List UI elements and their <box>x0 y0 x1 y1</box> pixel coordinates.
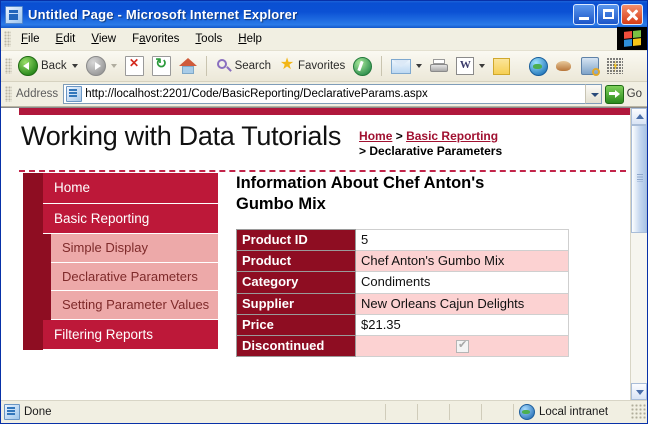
forward-icon <box>86 56 106 76</box>
breadcrumb-separator-1: > <box>392 129 406 143</box>
print-icon <box>430 59 448 73</box>
row-value-discontinued <box>356 336 569 357</box>
notes-icon <box>493 58 510 75</box>
scrollbar-track[interactable] <box>631 125 647 383</box>
ie-brand-logo <box>617 27 647 50</box>
sidebar-item-label: Simple Display <box>51 234 218 263</box>
title-bar: Untitled Page - Microsoft Internet Explo… <box>1 1 647 28</box>
back-history-chevron-down-icon[interactable] <box>72 64 78 68</box>
menu-item-edit[interactable]: Edit <box>48 30 84 48</box>
row-header-category: Category <box>237 272 356 293</box>
table-row: Category Condiments <box>237 272 569 293</box>
home-button[interactable] <box>175 54 201 78</box>
row-header-product-id: Product ID <box>237 229 356 250</box>
address-bar: Address http://localhost:2201/Code/Basic… <box>1 82 647 107</box>
window-controls <box>573 4 643 25</box>
back-label: Back <box>41 60 67 72</box>
refresh-button[interactable] <box>148 54 175 78</box>
sidebar-item-simple-display[interactable]: Simple Display <box>23 234 218 263</box>
table-row: Product Chef Anton's Gumbo Mix <box>237 251 569 272</box>
sidebar-item-home[interactable]: Home <box>23 173 218 204</box>
row-header-supplier: Supplier <box>237 293 356 314</box>
sidebar-item-declarative-parameters[interactable]: Declarative Parameters <box>23 263 218 292</box>
status-text: Done <box>24 406 52 418</box>
globe-icon <box>529 57 548 76</box>
mail-chevron-down-icon[interactable] <box>416 64 422 68</box>
favorites-star-icon: ★ <box>279 58 295 74</box>
menu-item-favorites[interactable]: Favorites <box>124 30 187 48</box>
scroll-up-button[interactable] <box>631 108 647 125</box>
sidebar-item-label: Declarative Parameters <box>51 263 218 292</box>
sidebar-nav: Home Basic Reporting Simple Display Decl… <box>19 173 218 357</box>
scrollbar-thumb[interactable] <box>631 125 647 233</box>
windows-flag-icon <box>624 30 641 47</box>
media-button[interactable] <box>349 54 376 78</box>
maximize-button[interactable] <box>597 4 619 25</box>
page-accent-bar <box>19 108 630 115</box>
address-grip[interactable] <box>5 86 12 102</box>
browser-window: Untitled Page - Microsoft Internet Explo… <box>0 0 648 424</box>
window-title: Untitled Page - Microsoft Internet Explo… <box>28 7 573 22</box>
product-detail-table: Product ID 5 Product Chef Anton's Gumbo … <box>236 229 569 358</box>
breadcrumb-link-basic-reporting[interactable]: Basic Reporting <box>406 129 498 143</box>
menu-item-file[interactable]: File <box>13 30 48 48</box>
sidebar-item-setting-parameter-values[interactable]: Setting Parameter Values <box>23 291 218 320</box>
back-button[interactable]: Back <box>14 54 82 78</box>
zone-text: Local intranet <box>539 406 608 418</box>
research-icon <box>607 58 623 74</box>
breadcrumb-current: > Declarative Parameters <box>359 144 502 158</box>
messenger-button[interactable] <box>552 54 577 78</box>
security-zone[interactable]: Local intranet <box>513 404 631 420</box>
content-heading: Information About Chef Anton's Gumbo Mix <box>236 173 546 216</box>
minimize-button[interactable] <box>573 4 595 25</box>
forward-history-chevron-down-icon[interactable] <box>111 64 117 68</box>
page-status-icon <box>4 404 20 420</box>
menu-item-help[interactable]: Help <box>230 30 270 48</box>
row-value-product-id: 5 <box>356 229 569 250</box>
status-panel-2 <box>417 404 449 420</box>
status-panel-3 <box>449 404 481 420</box>
messenger-icon <box>556 59 573 74</box>
sidebar-accent-bar <box>23 263 51 292</box>
resize-grip[interactable] <box>631 404 647 420</box>
mail-icon <box>391 59 411 74</box>
go-button[interactable]: Go <box>602 85 647 104</box>
row-value-supplier: New Orleans Cajun Delights <box>356 293 569 314</box>
row-value-category: Condiments <box>356 272 569 293</box>
stop-button[interactable] <box>121 54 148 78</box>
forward-button[interactable] <box>82 54 121 78</box>
close-button[interactable] <box>621 4 643 25</box>
search-button[interactable]: Search <box>212 54 275 78</box>
sidebar-accent-bar <box>23 291 51 320</box>
refresh-icon <box>152 56 171 76</box>
notes-button[interactable] <box>489 54 514 78</box>
page-body: Home Basic Reporting Simple Display Decl… <box>19 159 630 357</box>
page-icon <box>66 86 82 102</box>
sidebar-item-label: Basic Reporting <box>43 204 218 235</box>
edit-button[interactable]: W <box>452 54 489 78</box>
row-header-product: Product <box>237 251 356 272</box>
scroll-down-button[interactable] <box>631 383 647 400</box>
back-icon <box>18 56 38 76</box>
address-url-text: http://localhost:2201/Code/BasicReportin… <box>85 88 428 100</box>
row-header-price: Price <box>237 314 356 335</box>
stop-icon <box>125 56 144 76</box>
menu-bar: File Edit View Favorites Tools Help <box>1 28 647 51</box>
status-message: Done <box>1 404 385 420</box>
breadcrumb: Home > Basic Reporting > Declarative Par… <box>359 129 502 159</box>
row-value-product: Chef Anton's Gumbo Mix <box>356 251 569 272</box>
mail-button[interactable] <box>387 54 426 78</box>
address-chevron-down-icon[interactable] <box>585 84 602 104</box>
vertical-scrollbar[interactable] <box>630 108 647 400</box>
header-divider <box>19 170 626 172</box>
edit-chevron-down-icon[interactable] <box>479 64 485 68</box>
address-input[interactable]: http://localhost:2201/Code/BasicReportin… <box>63 84 584 104</box>
breadcrumb-link-home[interactable]: Home <box>359 129 392 143</box>
sidebar-item-label: Filtering Reports <box>43 320 218 351</box>
media-icon <box>353 57 372 76</box>
address-label: Address <box>14 88 63 100</box>
toolbar-separator <box>206 56 207 76</box>
table-row: Product ID 5 <box>237 229 569 250</box>
row-header-discontinued: Discontinued <box>237 336 356 357</box>
toolbar-separator-2 <box>381 56 382 76</box>
favorites-button[interactable]: ★ Favorites <box>275 54 349 78</box>
search-icon <box>216 58 232 74</box>
toolbar-grip[interactable] <box>5 58 12 74</box>
sidebar-accent-bar <box>23 173 43 204</box>
menu-grip[interactable] <box>4 31 11 47</box>
menu-item-tools[interactable]: Tools <box>187 30 230 48</box>
table-row: Discontinued <box>237 336 569 357</box>
edit-word-icon: W <box>456 57 474 75</box>
status-bar: Done Local intranet <box>1 400 647 423</box>
table-row: Supplier New Orleans Cajun Delights <box>237 293 569 314</box>
status-panel-1 <box>385 404 417 420</box>
discuss-button[interactable] <box>577 54 603 78</box>
web-page: Working with Data Tutorials Home > Basic… <box>1 108 630 400</box>
go-label: Go <box>627 88 642 100</box>
discontinued-checkbox <box>456 340 469 353</box>
search-label: Search <box>235 60 271 72</box>
print-button[interactable] <box>426 54 452 78</box>
sidebar-accent-bar <box>23 320 43 351</box>
table-row: Price $21.35 <box>237 314 569 335</box>
row-value-price: $21.35 <box>356 314 569 335</box>
status-panel-4 <box>481 404 513 420</box>
globe-icon <box>519 404 535 420</box>
page-header: Working with Data Tutorials Home > Basic… <box>19 115 630 159</box>
menu-item-view[interactable]: View <box>83 30 124 48</box>
sidebar-item-basic-reporting[interactable]: Basic Reporting <box>23 204 218 235</box>
research-button[interactable] <box>603 54 627 78</box>
discuss-icon <box>581 57 599 75</box>
home-icon <box>179 58 197 74</box>
sidebar-item-label: Home <box>43 173 218 204</box>
window-icon <box>5 6 23 24</box>
toolbar-separator-3 <box>519 56 520 76</box>
main-content: Information About Chef Anton's Gumbo Mix… <box>218 173 630 357</box>
favorites-label: Favorites <box>298 60 345 72</box>
sidebar-accent-bar <box>23 234 51 263</box>
globe-button[interactable] <box>525 54 552 78</box>
sidebar-item-label: Setting Parameter Values <box>51 291 218 320</box>
page-title: Working with Data Tutorials <box>19 123 341 150</box>
sidebar-item-filtering-reports[interactable]: Filtering Reports <box>23 320 218 351</box>
page-viewport: Working with Data Tutorials Home > Basic… <box>1 107 647 400</box>
go-arrow-icon <box>605 85 624 104</box>
sidebar-accent-bar <box>23 204 43 235</box>
browser-toolbar: Back Search ★ Favorites <box>1 51 647 82</box>
